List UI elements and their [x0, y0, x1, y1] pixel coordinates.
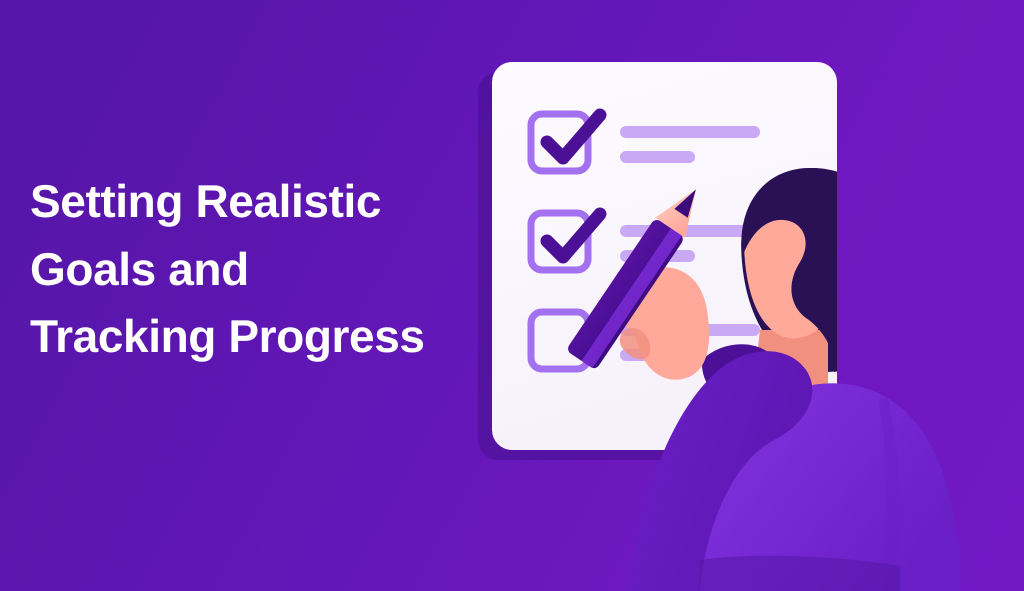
page-title: Setting Realistic Goals and Tracking Pro… [30, 168, 500, 371]
text-line-1-long [620, 126, 760, 138]
text-line-2-long [620, 225, 760, 237]
text-line-1-short [620, 151, 695, 163]
banner: Setting Realistic Goals and Tracking Pro… [0, 0, 1024, 591]
